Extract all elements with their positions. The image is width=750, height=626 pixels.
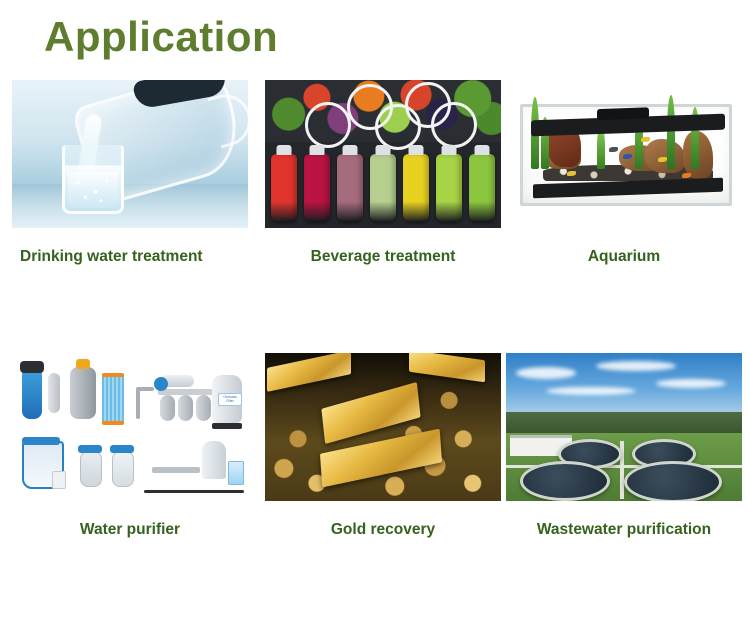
juice-bottle: [436, 154, 462, 222]
juice-bottle: [337, 154, 363, 222]
juice-bottle: [370, 154, 396, 222]
drinking-water-image: [12, 80, 248, 228]
application-card-water-purifier[interactable]: Osmosis Filter: [12, 353, 248, 539]
wastewater-image: [506, 353, 742, 501]
caption-water-purifier: Water purifier: [12, 521, 248, 539]
juice-bottle: [304, 154, 330, 222]
juice-bottle: [403, 154, 429, 222]
application-card-wastewater[interactable]: Wastewater purification: [506, 353, 742, 539]
caption-drinking-water: Drinking water treatment: [12, 248, 248, 266]
beverage-bottle-row: [271, 148, 495, 222]
aquarium-image: [506, 80, 742, 228]
caption-beverage: Beverage treatment: [265, 248, 501, 266]
gold-recovery-image: [265, 353, 501, 501]
application-grid: Drinking water treatment Beverage treat: [0, 80, 750, 626]
application-row-1: Drinking water treatment Beverage treat: [0, 80, 750, 353]
caption-gold-recovery: Gold recovery: [265, 521, 501, 539]
water-purifier-image: Osmosis Filter: [12, 353, 248, 501]
application-page: Application Drinking water treatment: [0, 0, 750, 573]
application-card-drinking-water[interactable]: Drinking water treatment: [12, 80, 248, 266]
beverage-image: [265, 80, 501, 228]
caption-aquarium: Aquarium: [506, 248, 742, 266]
osmosis-filter-label: Osmosis Filter: [218, 393, 242, 406]
caption-wastewater: Wastewater purification: [506, 521, 742, 539]
page-title: Application: [44, 8, 278, 66]
application-card-aquarium[interactable]: Aquarium: [506, 80, 742, 266]
juice-bottle: [271, 154, 297, 222]
application-card-gold-recovery[interactable]: Gold recovery: [265, 353, 501, 539]
juice-bottle: [469, 154, 495, 222]
application-card-beverage[interactable]: Beverage treatment: [265, 80, 501, 266]
application-row-2: Osmosis Filter: [0, 353, 750, 626]
